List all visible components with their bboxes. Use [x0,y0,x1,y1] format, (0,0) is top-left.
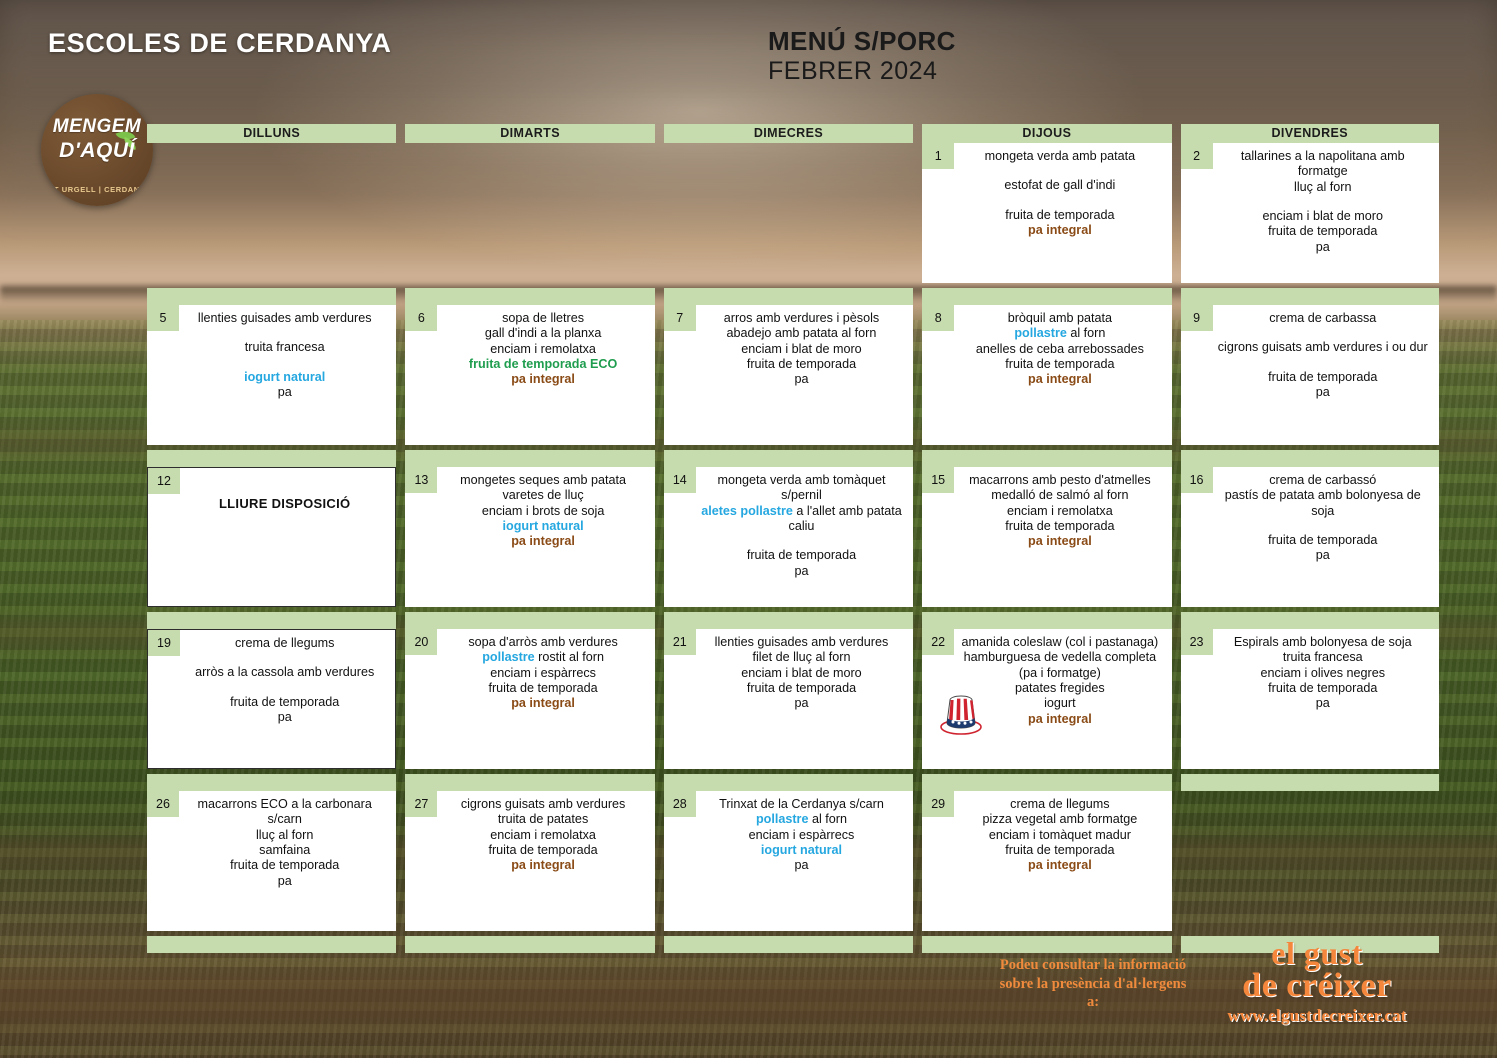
dish-line: pollastre rostit al forn [441,650,644,665]
dish-line: pa integral [441,696,644,711]
dish-line: fruita de temporada [441,843,644,858]
logo-line-1: MENGEM [41,116,153,138]
dish-highlight: aletes pollastre [701,504,793,518]
dish-line: pollastre al forn [700,812,903,827]
day-cell-empty [1181,791,1439,931]
week-divider-strip [1181,612,1439,629]
dish-line: enciam i espàrrecs [441,666,644,681]
brand-line-2: de créixer [1192,969,1442,1002]
school-title: ESCOLES DE CERDANYA [48,28,391,59]
dish-line: pa integral [441,372,644,387]
week-divider-strip [405,774,654,791]
day-number: 5 [147,305,179,331]
dish-spacer [1217,519,1429,533]
day-number: 9 [1181,305,1213,331]
day-cell-2: 2tallarines a la napolitana amb formatge… [1181,143,1439,283]
weekday-header-dimarts: DIMARTS [405,124,654,143]
dish-line: enciam i remolatxa [441,828,644,843]
weekday-header-dimecres: DIMECRES [664,124,913,143]
day-number: 16 [1181,467,1213,493]
week-divider-strip [922,450,1171,467]
dish-line: gall d'indi a la planxa [441,326,644,341]
dish-line: pa [1217,696,1429,711]
day-number: 27 [405,791,437,817]
dish-line: pa [700,372,903,387]
dish-line: arròs a la cassola amb verdures [184,665,385,680]
week-divider-strip [147,450,396,467]
week-divider-strip [147,288,396,305]
calendar-week-row: 5llenties guisades amb verdurestruita fr… [147,305,1439,467]
dish-line: llenties guisades amb verdures [183,311,386,326]
week-divider-strip [922,288,1171,305]
dish-line: llenties guisades amb verdures [700,635,903,650]
day-cell-16: 16crema de carbassópastís de patata amb … [1181,467,1439,607]
weekday-header-row: DILLUNSDIMARTSDIMECRESDIJOUSDIVENDRES [147,124,1439,143]
dish-line: truita de patates [441,812,644,827]
dish-line: pa [700,696,903,711]
logo-line-2: D'AQUÍ [41,139,153,163]
day-number: 7 [664,305,696,331]
dish-line: fruita de temporada [958,357,1161,372]
dish-line: fruita de temporada [1217,224,1429,239]
dish-line: cigrons guisats amb verdures [441,797,644,812]
day-cell-21: 21llenties guisades amb verduresfilet de… [664,629,913,769]
brand-url: www.elgustdecreixer.cat [1192,1006,1442,1026]
calendar-week-row: 19crema de llegumsarròs a la cassola amb… [147,629,1439,791]
dish-list: crema de carbassacigrons guisats amb ver… [1187,309,1433,400]
day-cell-empty [147,143,396,283]
dish-spacer [184,651,385,665]
day-number: 8 [922,305,954,331]
dish-highlight: pollastre [482,650,535,664]
dish-line: lluç al forn [183,828,386,843]
weekday-header-dilluns: DILLUNS [147,124,396,143]
allergen-note: Podeu consultar la informació sobre la p… [998,956,1188,1012]
dish-line: pollastre al forn [958,326,1161,341]
dish-line: fruita de temporada [1217,533,1429,548]
dish-line: fruita de temporada [958,843,1161,858]
day-cell-9: 9crema de carbassacigrons guisats amb ve… [1181,305,1439,445]
menu-month: FEBRER 2024 [690,57,1210,86]
day-number: 22 [922,629,954,655]
dish-line: bròquil amb patata [958,311,1161,326]
dish-line: sopa de lletres [441,311,644,326]
dish-line: fruita de temporada [700,357,903,372]
week-divider-strip [922,774,1171,791]
dish-list: bròquil amb patatapollastre al fornanell… [928,309,1165,388]
dish-line: enciam i remolatxa [958,504,1161,519]
menu-calendar: DILLUNSDIMARTSDIMECRESDIJOUSDIVENDRES 1m… [147,124,1439,953]
week-divider-strip [1181,450,1439,467]
dish-line: fruita de temporada [1217,370,1429,385]
dish-list: cigrons guisats amb verdurestruita de pa… [411,795,648,874]
day-number: 15 [922,467,954,493]
dish-line: fruita de temporada [958,208,1161,223]
dish-line: pa [700,858,903,873]
weekday-header-dijous: DIJOUS [922,124,1171,143]
day-cell-20: 20sopa d'arròs amb verdurespollastre ros… [405,629,654,769]
dish-line: pa integral [958,858,1161,873]
dish-line: fruita de temporada ECO [441,357,644,372]
weekday-header-divendres: DIVENDRES [1181,124,1439,143]
calendar-week-row: 1mongeta verda amb patataestofat de gall… [147,143,1439,305]
dish-line: pa [183,385,386,400]
dish-line: enciam i tomàquet madur [958,828,1161,843]
dish-line: filet de lluç al forn [700,650,903,665]
uncle-sam-hat-icon [938,689,984,737]
week-divider-strip [664,450,913,467]
day-number: 14 [664,467,696,493]
dish-line: enciam i remolatxa [441,342,644,357]
dish-spacer [958,164,1161,178]
week-divider-strip [405,288,654,305]
day-cell-27: 27cigrons guisats amb verdurestruita de … [405,791,654,931]
dish-line: Espirals amb bolonyesa de soja [1217,635,1429,650]
dish-spacer [1217,356,1429,370]
dish-line: medalló de salmó al forn [958,488,1161,503]
dish-line: pa integral [441,534,644,549]
day-cell-empty [405,143,654,283]
dish-line: enciam i blat de moro [700,666,903,681]
dish-spacer [183,356,386,370]
dish-line: iogurt natural [183,370,386,385]
day-cell-1: 1mongeta verda amb patataestofat de gall… [922,143,1171,283]
dish-line: mongetes seques amb patata [441,473,644,488]
day-cell-12: 12LLIURE DISPOSICIÓ [147,467,396,607]
day-cell-14: 14mongeta verda amb tomàquet s/pernilale… [664,467,913,607]
dish-line: macarrons amb pesto d'atmelles [958,473,1161,488]
dish-line: anelles de ceba arrebossades [958,342,1161,357]
dish-list: Espirals amb bolonyesa de sojatruita fra… [1187,633,1433,712]
dish-highlight: pollastre [1014,326,1067,340]
dish-line: enciam i brots de soja [441,504,644,519]
dish-line: pa integral [958,372,1161,387]
dish-line: pa [700,564,903,579]
day-cell-28: 28Trinxat de la Cerdanya s/carnpollastre… [664,791,913,931]
week-divider-strip [664,612,913,629]
day-number: 13 [405,467,437,493]
dish-line: samfaina [183,843,386,858]
dish-list: sopa d'arròs amb verdurespollastre rosti… [411,633,648,712]
dish-list: llenties guisades amb verdurestruita fra… [153,309,390,400]
week-divider-strip [1181,774,1439,791]
dish-line: arros amb verdures i pèsols [700,311,903,326]
dish-list: tallarines a la napolitana amb formatgel… [1187,147,1433,255]
day-cell-7: 7arros amb verdures i pèsolsabadejo amb … [664,305,913,445]
dish-spacer [700,534,903,548]
dish-list: llenties guisades amb verduresfilet de l… [670,633,907,712]
dish-list: arros amb verdures i pèsolsabadejo amb p… [670,309,907,388]
dish-line: fruita de temporada [958,519,1161,534]
week-divider-strip [664,774,913,791]
dish-line: pa [1217,385,1429,400]
dish-line: abadejo amb patata al forn [700,326,903,341]
dish-line: patates fregides [958,681,1161,696]
week-divider-strip [664,288,913,305]
dish-spacer [1217,326,1429,340]
dish-line: aletes pollastre a l'allet amb patata ca… [700,504,903,535]
dish-spacer [184,681,385,695]
dish-line: pa [1217,548,1429,563]
dish-line: truita francesa [1217,650,1429,665]
dish-line: enciam i olives negres [1217,666,1429,681]
dish-list: mongeta verda amb tomàquet s/pernilalete… [670,471,907,579]
dish-line: pa integral [958,534,1161,549]
dish-line: pa integral [441,858,644,873]
dish-line: pastís de patata amb bolonyesa de soja [1217,488,1429,519]
day-number: 1 [922,143,954,169]
dish-line: fruita de temporada [184,695,385,710]
dish-line: truita francesa [183,340,386,355]
dish-line: hamburguesa de vedella completa (pa i fo… [958,650,1161,681]
dish-line: lluç al forn [1217,180,1429,195]
day-cell-26: 26macarrons ECO a la carbonara s/carnllu… [147,791,396,931]
dish-line: enciam i blat de moro [1217,209,1429,224]
day-cell-23: 23Espirals amb bolonyesa de sojatruita f… [1181,629,1439,769]
dish-line: Trinxat de la Cerdanya s/carn [700,797,903,812]
day-number: 23 [1181,629,1213,655]
calendar-week-row: 26macarrons ECO a la carbonara s/carnllu… [147,791,1439,953]
dish-line: crema de carbassó [1217,473,1429,488]
week-divider-strip [147,774,396,791]
logo-line-3: ALT URGELL | CERDANYA [41,185,153,194]
dish-line: fruita de temporada [700,548,903,563]
dish-line: amanida coleslaw (col i pastanaga) [958,635,1161,650]
day-cell-15: 15macarrons amb pesto d'atmellesmedalló … [922,467,1171,607]
day-number: 28 [664,791,696,817]
dish-line: mongeta verda amb tomàquet s/pernil [700,473,903,504]
day-number: 2 [1181,143,1213,169]
week-divider-strip [405,936,654,953]
dish-line: pizza vegetal amb formatge [958,812,1161,827]
dish-line: pa integral [958,223,1161,238]
free-disposition-label: LLIURE DISPOSICIÓ [184,496,385,512]
dish-line: enciam i espàrrecs [700,828,903,843]
day-number: 26 [147,791,179,817]
menu-title-block: MENÚ S/PORC FEBRER 2024 [690,26,1210,86]
day-number: 20 [405,629,437,655]
dish-list: crema de llegumsarròs a la cassola amb v… [154,634,389,725]
dish-line: fruita de temporada [700,681,903,696]
dish-line: iogurt [958,696,1161,711]
dish-line: fruita de temporada [1217,681,1429,696]
week-divider-strip [922,936,1171,953]
dish-spacer [183,326,386,340]
dish-list: macarrons amb pesto d'atmellesmedalló de… [928,471,1165,550]
dish-line: enciam i blat de moro [700,342,903,357]
dish-highlight: pollastre [756,812,809,826]
dish-list: macarrons ECO a la carbonara s/carnlluç … [153,795,390,889]
dish-line: estofat de gall d'indi [958,178,1161,193]
dish-spacer [1217,195,1429,209]
day-cell-empty [664,143,913,283]
dish-line: crema de llegums [958,797,1161,812]
day-cell-22: 22amanida coleslaw (col i pastanaga)hamb… [922,629,1171,769]
day-number: 12 [148,468,180,494]
day-number: 6 [405,305,437,331]
week-divider-strip [1181,288,1439,305]
week-divider-strip [147,936,396,953]
day-number: 19 [148,630,180,656]
dish-list: LLIURE DISPOSICIÓ [154,472,389,512]
dish-list: crema de llegumspizza vegetal amb format… [928,795,1165,874]
dish-line: crema de llegums [184,636,385,651]
calendar-weeks: 1mongeta verda amb patataestofat de gall… [147,143,1439,953]
dish-spacer [958,194,1161,208]
dish-line: tallarines a la napolitana amb formatge [1217,149,1429,180]
dish-line: pa [184,710,385,725]
dish-line: crema de carbassa [1217,311,1429,326]
day-cell-6: 6sopa de lletresgall d'indi a la planxae… [405,305,654,445]
dish-list: mongetes seques amb patatavaretes de llu… [411,471,648,550]
dish-list: mongeta verda amb patataestofat de gall … [928,147,1165,238]
week-divider-strip [147,612,396,629]
day-cell-19: 19crema de llegumsarròs a la cassola amb… [147,629,396,769]
calendar-week-row: 12LLIURE DISPOSICIÓ13mongetes seques amb… [147,467,1439,629]
dish-list: crema de carbassópastís de patata amb bo… [1187,471,1433,564]
dish-line: pa [183,874,386,889]
dish-line: macarrons ECO a la carbonara s/carn [183,797,386,828]
week-divider-strip [405,612,654,629]
dish-line: sopa d'arròs amb verdures [441,635,644,650]
week-divider-strip [664,936,913,953]
dish-line: iogurt natural [441,519,644,534]
day-cell-5: 5llenties guisades amb verdurestruita fr… [147,305,396,445]
week-divider-strip [405,450,654,467]
day-number: 21 [664,629,696,655]
day-cell-29: 29crema de llegumspizza vegetal amb form… [922,791,1171,931]
el-gust-de-creixer-logo: el gust de créixer www.elgustdecreixer.c… [1192,938,1442,1026]
dish-list: Trinxat de la Cerdanya s/carnpollastre a… [670,795,907,874]
dish-line: pa integral [958,712,1161,727]
dish-list: sopa de lletresgall d'indi a la planxaen… [411,309,648,388]
dish-line: mongeta verda amb patata [958,149,1161,164]
dish-line: varetes de lluç [441,488,644,503]
day-cell-13: 13mongetes seques amb patatavaretes de l… [405,467,654,607]
dish-line: fruita de temporada [183,858,386,873]
day-cell-8: 8bròquil amb patatapollastre al fornanel… [922,305,1171,445]
menu-title: MENÚ S/PORC [690,26,1210,57]
mengem-daqui-logo: MENGEM D'AQUÍ ALT URGELL | CERDANYA [41,94,153,206]
dish-line: cigrons guisats amb verdures i ou dur [1217,340,1429,355]
dish-line: iogurt natural [700,843,903,858]
dish-line: fruita de temporada [441,681,644,696]
brand-line-1: el gust [1192,938,1442,969]
week-divider-strip [922,612,1171,629]
dish-line: pa [1217,240,1429,255]
day-number: 29 [922,791,954,817]
